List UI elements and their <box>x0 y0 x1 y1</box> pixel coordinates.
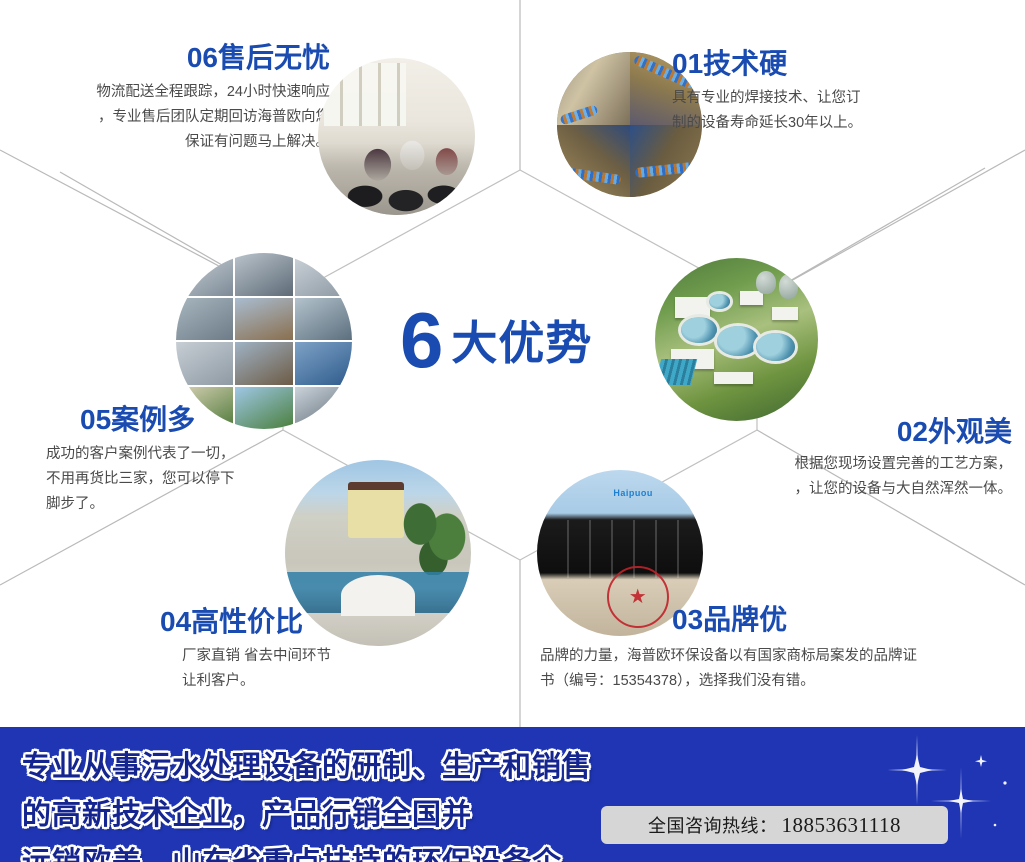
feature-01: 01技术硬 具有专业的焊接技术、让您订 制的设备寿命延长30年以上。 <box>672 48 1002 136</box>
center-number: 6 <box>400 305 441 375</box>
feature-02-image <box>655 258 818 421</box>
office-team-photo <box>318 58 475 215</box>
feature-02-title: 02外观美 <box>700 416 1012 448</box>
hotline-label: 全国咨询热线： <box>648 812 778 838</box>
feature-03: 03品牌优 <box>672 604 1012 636</box>
trademark-stamp-icon: ★ <box>607 566 669 628</box>
center-label: 大优势 <box>451 307 592 373</box>
feature-04: 04高性价比 厂家直销 省去中间环节 让利客户。 <box>140 606 430 694</box>
feature-06-body: 物流配送全程跟踪，24小时快速响应 ，专业售后团队定期回访海普欧向您 保证有问题… <box>20 80 330 155</box>
feature-02: 02外观美 根据您现场设置完善的工艺方案， ，让您的设备与大自然浑然一体。 <box>700 416 1012 502</box>
feature-03-title: 03品牌优 <box>672 604 1012 636</box>
feature-02-body: 根据您现场设置完善的工艺方案， ，让您的设备与大自然浑然一体。 <box>700 452 1012 502</box>
feature-04-title: 04高性价比 <box>160 606 430 638</box>
feature-04-body: 厂家直销 省去中间环节 让利客户。 <box>182 644 430 694</box>
feature-03-description: 品牌的力量，海普欧环保设备以有国家商标局案发的品牌证 书（编号：15354378… <box>540 644 1020 694</box>
feature-05-body: 成功的客户案例代表了一切， 不用再货比三家，您可以停下 脚步了。 <box>46 442 321 517</box>
tank-brand-logo: Haipuou <box>613 488 653 498</box>
center-badge: 6 大优势 <box>400 295 640 385</box>
aerial-treatment-plant-photo <box>655 258 818 421</box>
banner-headline: 专业从事污水处理设备的研制、生产和销售的高新技术企业，产品行销全国并 远销欧美，… <box>22 743 612 862</box>
feature-05-title: 05案例多 <box>80 404 321 436</box>
feature-03-body: 品牌的力量，海普欧环保设备以有国家商标局案发的品牌证 书（编号：15354378… <box>540 644 1020 694</box>
hotline-number: 18853631118 <box>782 813 901 838</box>
feature-05-image <box>176 253 352 429</box>
feature-06-title: 06售后无忧 <box>20 42 330 74</box>
feature-06: 06售后无忧 物流配送全程跟踪，24小时快速响应 ，专业售后团队定期回访海普欧向… <box>20 42 330 155</box>
case-photo-grid <box>176 253 352 429</box>
hotline-box[interactable]: 全国咨询热线： 18853631118 <box>601 806 948 844</box>
promo-infographic: 6 大优势 06售后无忧 物流配送全程跟踪，24小时快速响应 ，专业售后团队定期… <box>0 0 1025 862</box>
feature-05: 05案例多 成功的客户案例代表了一切， 不用再货比三家，您可以停下 脚步了。 <box>46 404 321 517</box>
feature-06-image <box>318 58 475 215</box>
feature-01-title: 01技术硬 <box>672 48 1002 80</box>
feature-01-body: 具有专业的焊接技术、让您订 制的设备寿命延长30年以上。 <box>672 86 1002 136</box>
